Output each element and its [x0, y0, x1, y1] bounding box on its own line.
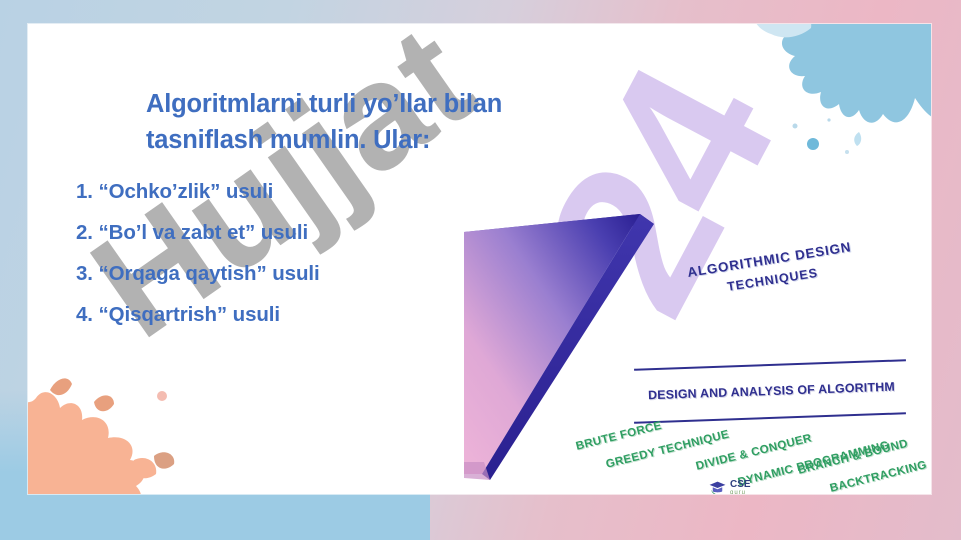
cse-logo: CSE guru	[708, 478, 751, 494]
divider-top	[634, 359, 906, 370]
illustration-subtitle: DESIGN AND ANALYSIS OF ALGORITHM	[634, 379, 909, 403]
page-title-line-2: tasniflash mumlin. Ular:	[146, 122, 586, 158]
graduation-cap-icon	[708, 478, 727, 494]
list-item: 4. “Qisqartrish” usuli	[76, 305, 496, 326]
list-item: 3. “Orqaga qaytish” usuli	[76, 264, 496, 285]
cse-logo-name: CSE	[730, 479, 751, 490]
page-title: Algoritmlarni turli yo’llar bilan tasnif…	[146, 86, 586, 158]
slide-root: 24 Hujjat Algoritmlarni turli yo’llar bi…	[0, 0, 961, 540]
page-title-line-1: Algoritmlarni turli yo’llar bilan	[146, 86, 586, 122]
divider-bottom	[634, 412, 906, 423]
method-list: 1. “Ochko’zlik” usuli 2. “Bo’l va zabt e…	[76, 182, 496, 346]
list-item: 1. “Ochko’zlik” usuli	[76, 182, 496, 203]
slide-canvas: 24 Hujjat Algoritmlarni turli yo’llar bi…	[28, 24, 931, 494]
list-item: 2. “Bo’l va zabt et” usuli	[76, 223, 496, 244]
illustration-title: ALGORITHMIC DESIGN TECHNIQUES	[644, 231, 897, 310]
cse-logo-text: CSE guru	[730, 480, 751, 494]
cse-logo-tagline: guru	[730, 490, 751, 494]
orange-splash-decoration	[28, 364, 217, 494]
blue-splash-decoration	[755, 24, 931, 167]
algorithm-illustration: ALGORITHMIC DESIGN TECHNIQUES DESIGN AND…	[458, 204, 928, 494]
